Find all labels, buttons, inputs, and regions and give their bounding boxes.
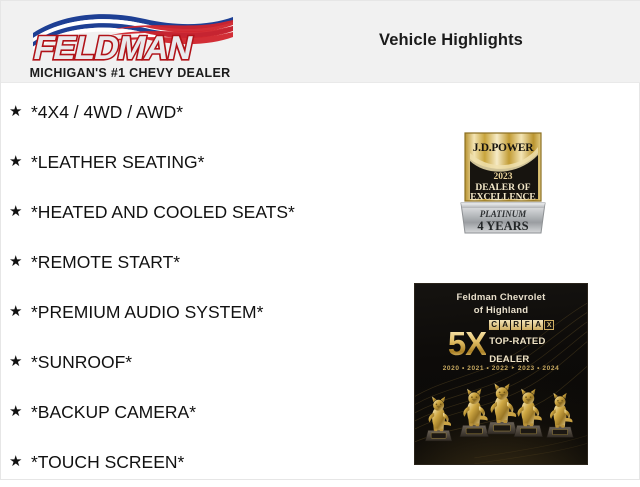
- star-icon: ★: [9, 187, 22, 237]
- list-item: ★ *REMOTE START*: [1, 237, 401, 287]
- carfax-award-row: 5X C A R F A X TOP-RATED DEALER: [423, 324, 579, 362]
- carfax-dealer-name: Feldman Chevrolet of Highland: [415, 292, 587, 317]
- carfax-subtitle-line2: DEALER: [489, 354, 529, 365]
- jd-power-year: 2023: [494, 172, 513, 182]
- list-item-label: *TOUCH SCREEN*: [31, 452, 184, 472]
- carfax-letter: X: [544, 320, 554, 330]
- list-item-label: *LEATHER SEATING*: [31, 152, 204, 172]
- list-item-label: *BACKUP CAMERA*: [31, 402, 196, 422]
- list-item: ★ *HEATED AND COOLED SEATS*: [1, 187, 401, 237]
- list-item: ★ *LEATHER SEATING*: [1, 137, 401, 187]
- jd-power-line1: DEALER OF: [475, 183, 530, 193]
- carfax-letter: C: [489, 320, 499, 330]
- list-item-label: *PREMIUM AUDIO SYSTEM*: [31, 302, 263, 322]
- feldman-logo: FELDMAN MICHIGAN'S #1 CHEVY DEALER: [19, 7, 241, 79]
- carfax-letter: R: [511, 320, 521, 330]
- carfax-subtitle-line1: TOP-RATED: [489, 336, 545, 347]
- carfax-letter: F: [522, 320, 532, 330]
- list-item-label: *SUNROOF*: [31, 352, 132, 372]
- jd-power-wordmark: J.D.POWER: [473, 142, 535, 154]
- star-icon: ★: [9, 137, 22, 187]
- page-header: FELDMAN MICHIGAN'S #1 CHEVY DEALER Vehic…: [1, 1, 640, 83]
- star-icon: ★: [9, 337, 22, 387]
- list-item-label: *REMOTE START*: [31, 252, 180, 272]
- svg-text:FELDMAN: FELDMAN: [30, 30, 196, 67]
- carfax-wordmark: C A R F A X: [489, 320, 554, 330]
- list-item: ★ *SUNROOF*: [1, 337, 401, 387]
- star-icon: ★: [9, 237, 22, 287]
- carfax-dealer-line2: of Highland: [415, 305, 587, 318]
- feldman-wordmark: FELDMAN: [30, 30, 196, 67]
- carfax-dealer-line1: Feldman Chevrolet: [415, 292, 587, 305]
- carfax-letter: A: [533, 320, 543, 330]
- vehicle-highlights-page: FELDMAN MICHIGAN'S #1 CHEVY DEALER Vehic…: [0, 0, 640, 480]
- list-item: ★ *PREMIUM AUDIO SYSTEM*: [1, 287, 401, 337]
- list-item-label: *HEATED AND COOLED SEATS*: [31, 202, 295, 222]
- carfax-trophies: [421, 374, 583, 458]
- jd-power-line2: EXCELLENCE: [470, 193, 535, 203]
- carfax-logo-block: C A R F A X TOP-RATED DEALER: [489, 320, 554, 367]
- star-icon: ★: [9, 387, 22, 437]
- jd-power-tier: PLATINUM: [480, 209, 528, 219]
- carfax-letter: A: [500, 320, 510, 330]
- list-item: ★ *4X4 / 4WD / AWD*: [1, 87, 401, 137]
- feldman-logo-tagline: MICHIGAN'S #1 CHEVY DEALER: [30, 66, 231, 79]
- carfax-years: 2020 • 2021 • 2022 ‣ 2023 • 2024: [415, 364, 587, 372]
- star-icon: ★: [9, 87, 22, 137]
- jd-power-duration: 4 YEARS: [477, 219, 528, 233]
- jd-power-badge: J.D.POWER 2023 DEALER OF EXCELLENCE PLAT…: [459, 129, 547, 241]
- carfax-multiplier: 5X: [448, 327, 486, 360]
- list-item: ★ *BACKUP CAMERA*: [1, 387, 401, 437]
- carfax-badge: Feldman Chevrolet of Highland 5X C A R F…: [414, 283, 588, 465]
- list-item-label: *4X4 / 4WD / AWD*: [31, 102, 183, 122]
- page-title: Vehicle Highlights: [331, 31, 571, 50]
- vehicle-highlights-list: ★ *4X4 / 4WD / AWD* ★ *LEATHER SEATING* …: [1, 87, 401, 487]
- star-icon: ★: [9, 287, 22, 337]
